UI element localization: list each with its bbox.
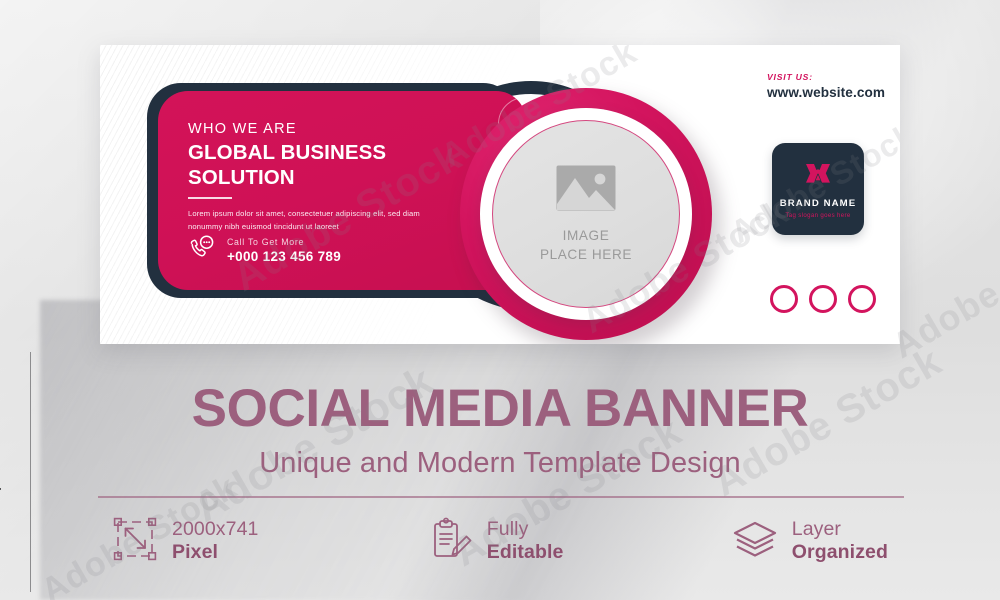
phone-chat-icon [188,235,216,266]
card-eyebrow: WHO WE ARE [188,121,297,137]
banner-artboard: WHO WE ARE GLOBAL BUSINESS SOLUTION Lore… [100,45,900,344]
call-to-action: Call To Get More +000 123 456 789 [188,235,341,266]
caption-divider [98,496,904,498]
image-placeholder[interactable]: IMAGE PLACE HERE [492,120,680,308]
brand-name: BRAND NAME [780,198,857,209]
clipboard-pencil-icon [427,516,473,567]
call-number: +000 123 456 789 [227,249,341,264]
brand-slogan: Tag slogan goes here [785,212,850,219]
feature-bottom-layers: Organized [792,541,888,564]
card-headline: GLOBAL BUSINESS SOLUTION [188,140,498,190]
placeholder-line-2: PLACE HERE [540,246,632,264]
call-text-group: Call To Get More +000 123 456 789 [227,237,341,264]
feature-item-layers: Layer Organized [732,518,888,565]
ring-2 [809,285,837,313]
brand-badge: BRAND NAME Tag slogan goes here [772,143,864,235]
card-body-text: Lorem ipsum dolor sit amet, consectetuer… [188,207,456,233]
feature-top-pixel: 2000x741 [172,518,258,541]
decorative-rings [770,285,876,313]
feature-item-editable: Fully Editable [427,516,564,567]
website-url[interactable]: www.website.com [767,85,885,100]
stock-preview-canvas: Adobe Stock | #675981044 WHO WE ARE GLOB… [0,0,1000,600]
feature-top-layers: Layer [792,518,888,541]
page-title: SOCIAL MEDIA BANNER [0,382,1000,435]
image-placeholder-text: IMAGE PLACE HERE [540,227,632,263]
feature-text-pixel: 2000x741 Pixel [172,518,258,564]
page-subtitle: Unique and Modern Template Design [0,447,1000,480]
ring-1 [770,285,798,313]
layers-stack-icon [732,518,778,565]
visit-us-label: VISIT US: [767,72,813,82]
feature-top-editable: Fully [487,518,564,541]
placeholder-line-1: IMAGE [540,227,632,245]
feature-item-pixel: 2000x741 Pixel [112,516,258,567]
resize-dimensions-icon [112,516,158,567]
feature-bottom-editable: Editable [487,541,564,564]
feature-list: 2000x741 Pixel Fully Editable [100,510,900,572]
feature-bottom-pixel: Pixel [172,541,258,564]
ring-3 [848,285,876,313]
image-placeholder-icon [555,164,617,217]
brand-x-logo-icon [803,160,833,195]
card-rule [188,197,232,199]
feature-text-layers: Layer Organized [792,518,888,564]
call-label: Call To Get More [227,237,341,247]
feature-text-editable: Fully Editable [487,518,564,564]
